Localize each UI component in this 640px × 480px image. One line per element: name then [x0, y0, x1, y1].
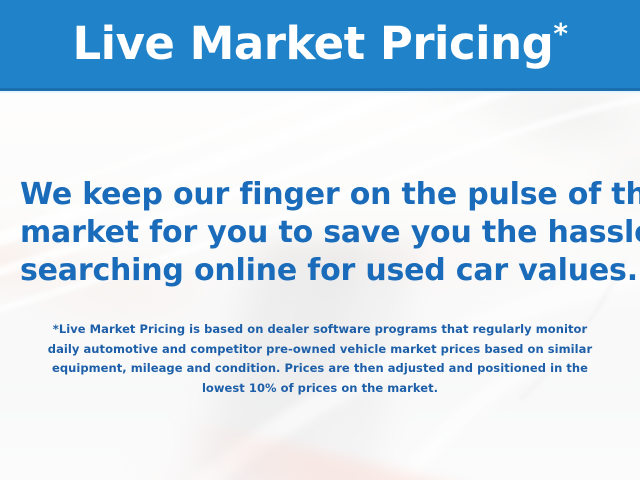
- disclaimer-line: daily automotive and competitor pre-owne…: [20, 340, 620, 360]
- header-banner: Live Market Pricing*: [0, 0, 640, 88]
- disclaimer-line: lowest 10% of prices on the market.: [20, 379, 620, 399]
- disclaimer-line: equipment, mileage and condition. Prices…: [20, 359, 620, 379]
- page-title: Live Market Pricing*: [0, 14, 640, 74]
- disclaimer-text: *Live Market Pricing is based on dealer …: [20, 320, 620, 398]
- banner-bottom-edge-light: [0, 91, 640, 93]
- page-title-text: Live Market Pricing: [73, 17, 554, 70]
- headline-line: We keep our finger on the pulse of the: [20, 176, 620, 214]
- live-market-pricing-graphic: Live Market Pricing* We keep our finger …: [0, 0, 640, 480]
- page-title-asterisk: *: [553, 17, 567, 50]
- headline-line: market for you to save you the hassle of: [20, 214, 620, 252]
- headline-text: We keep our finger on the pulse of the m…: [20, 176, 620, 290]
- disclaimer-line: *Live Market Pricing is based on dealer …: [20, 320, 620, 340]
- headline-line: searching online for used car values.: [20, 252, 620, 290]
